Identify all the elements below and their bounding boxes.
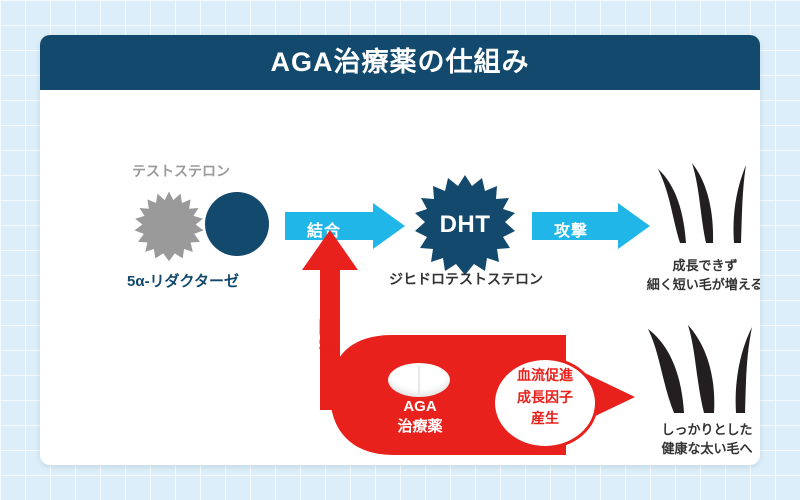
drug-label-text: AGA 治療薬 — [397, 398, 442, 435]
drug-label: AGA 治療薬 — [360, 397, 480, 438]
good-outcome-caption: しっかりとした 健康な太い毛へ — [642, 421, 760, 459]
good-outcome-text: しっかりとした 健康な太い毛へ — [661, 422, 752, 456]
growth-factor-label: 血流促進 成長因子 産生 — [492, 365, 598, 430]
reductase-circle-icon — [205, 192, 269, 256]
thick-hair-icon — [648, 323, 760, 415]
dht-badge-label: DHT — [415, 175, 515, 275]
thin-hair-icon — [650, 155, 758, 245]
testosterone-label: テストステロン — [132, 163, 230, 181]
diagram-card: AGA治療薬の仕組み テストステロン 5α-リダクターゼ 結合 DHT ジヒドロ… — [40, 35, 760, 465]
bad-outcome-line1: 成長できず 細く短い毛が増える — [647, 258, 760, 292]
attack-arrow-icon — [532, 203, 650, 249]
reductase-label: 5α-リダクターゼ — [127, 273, 239, 292]
testosterone-star-icon — [133, 190, 205, 262]
bad-outcome-caption: 成長できず 細く短い毛が増える — [640, 257, 760, 295]
diagram-canvas: AGA治療薬の仕組み テストステロン 5α-リダクターゼ 結合 DHT ジヒドロ… — [0, 0, 800, 500]
attack-arrow-label: 攻撃 — [554, 217, 588, 241]
growth-factor-text: 血流促進 成長因子 産生 — [517, 367, 573, 426]
dht-full-label: ジヒドロテストステロン — [389, 271, 543, 289]
page-title: AGA治療薬の仕組み — [40, 35, 760, 90]
drug-pill-score-line — [418, 366, 420, 394]
